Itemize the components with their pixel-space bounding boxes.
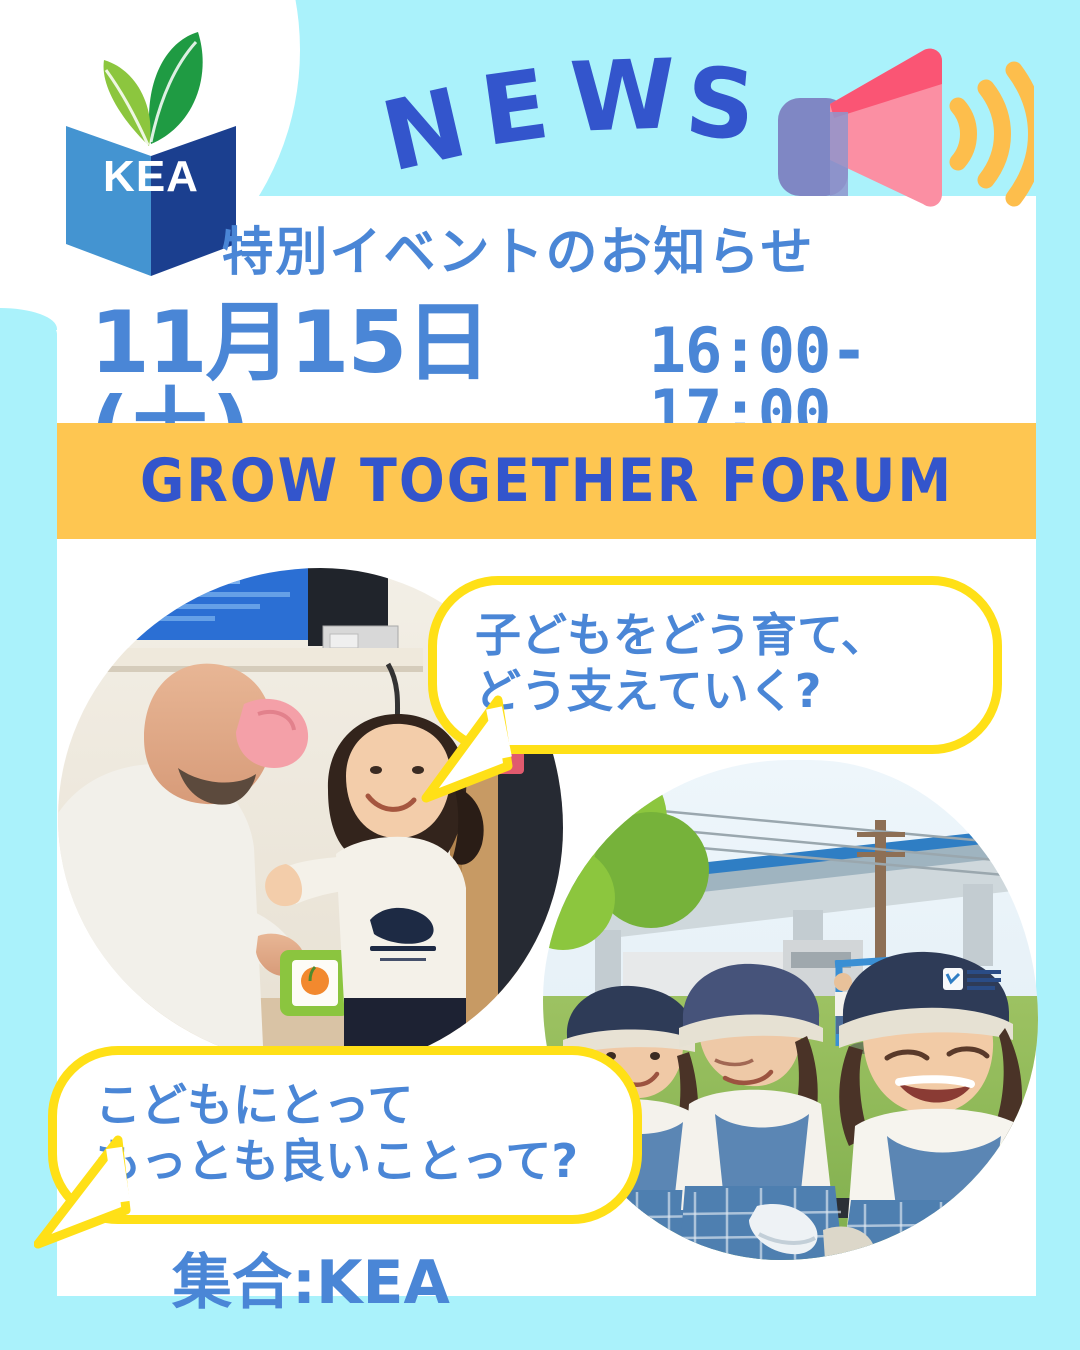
bubble-1-tail: [420, 694, 530, 806]
bubble-2-line-1: こどもにとって: [95, 1077, 595, 1133]
news-title: N E W S: [380, 38, 780, 168]
bubble-1-line-2: どう支えていく?: [475, 663, 955, 719]
bubble-2-line-2: もっとも良いことって?: [95, 1133, 595, 1189]
bubble-question-1: 子どもをどう育て、 どう支えていく?: [428, 576, 1002, 754]
forum-title: GROW TOGETHER FORUM: [140, 446, 953, 516]
bubble-question-2: こどもにとって もっとも良いことって?: [48, 1046, 642, 1224]
poster-root: KEA N E W S 特別イベントのお知らせ 11月15日(土) 16:00-…: [0, 0, 1080, 1350]
news-letter-w: W: [568, 46, 677, 146]
logo-text: KEA: [56, 152, 246, 202]
event-subtitle: 特別イベントのお知らせ: [0, 210, 1036, 285]
forum-title-banner: GROW TOGETHER FORUM: [57, 423, 1036, 539]
news-letter-e: E: [476, 56, 554, 160]
bubble-2-tail: [34, 1132, 144, 1252]
meeting-place: 集合:KEA: [172, 1234, 450, 1321]
bubble-1-line-1: 子どもをどう育て、: [475, 607, 955, 663]
news-letter-s: S: [682, 53, 759, 155]
megaphone-icon: [772, 42, 1034, 222]
